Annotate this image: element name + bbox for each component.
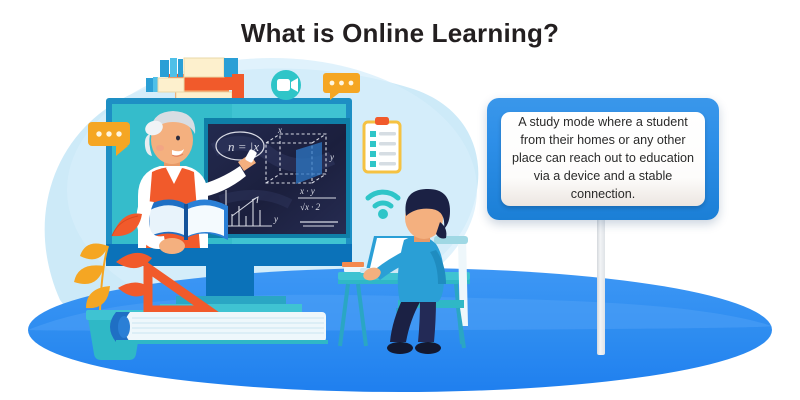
sign-panel: A study mode where a student from their …: [501, 112, 705, 206]
svg-text:x: x: [277, 125, 282, 135]
open-book: [146, 199, 228, 240]
page-title: What is Online Learning?: [0, 18, 800, 49]
svg-text:x · y: x · y: [299, 186, 315, 196]
svg-text:√x · 2: √x · 2: [300, 202, 321, 212]
screen-content: n = |x x y: [112, 104, 350, 254]
sign-post: [597, 205, 605, 355]
illustration-scene: n = |x x y: [0, 0, 800, 400]
svg-text:y: y: [329, 152, 334, 162]
sign-board[interactable]: A study mode where a student from their …: [487, 98, 719, 220]
svg-text:y: y: [273, 214, 278, 224]
floor-books: [110, 312, 328, 344]
video-camera-icon[interactable]: [271, 70, 301, 100]
sign-text: A study mode where a student from their …: [501, 114, 705, 203]
clipboard-checklist-icon[interactable]: [364, 117, 400, 172]
